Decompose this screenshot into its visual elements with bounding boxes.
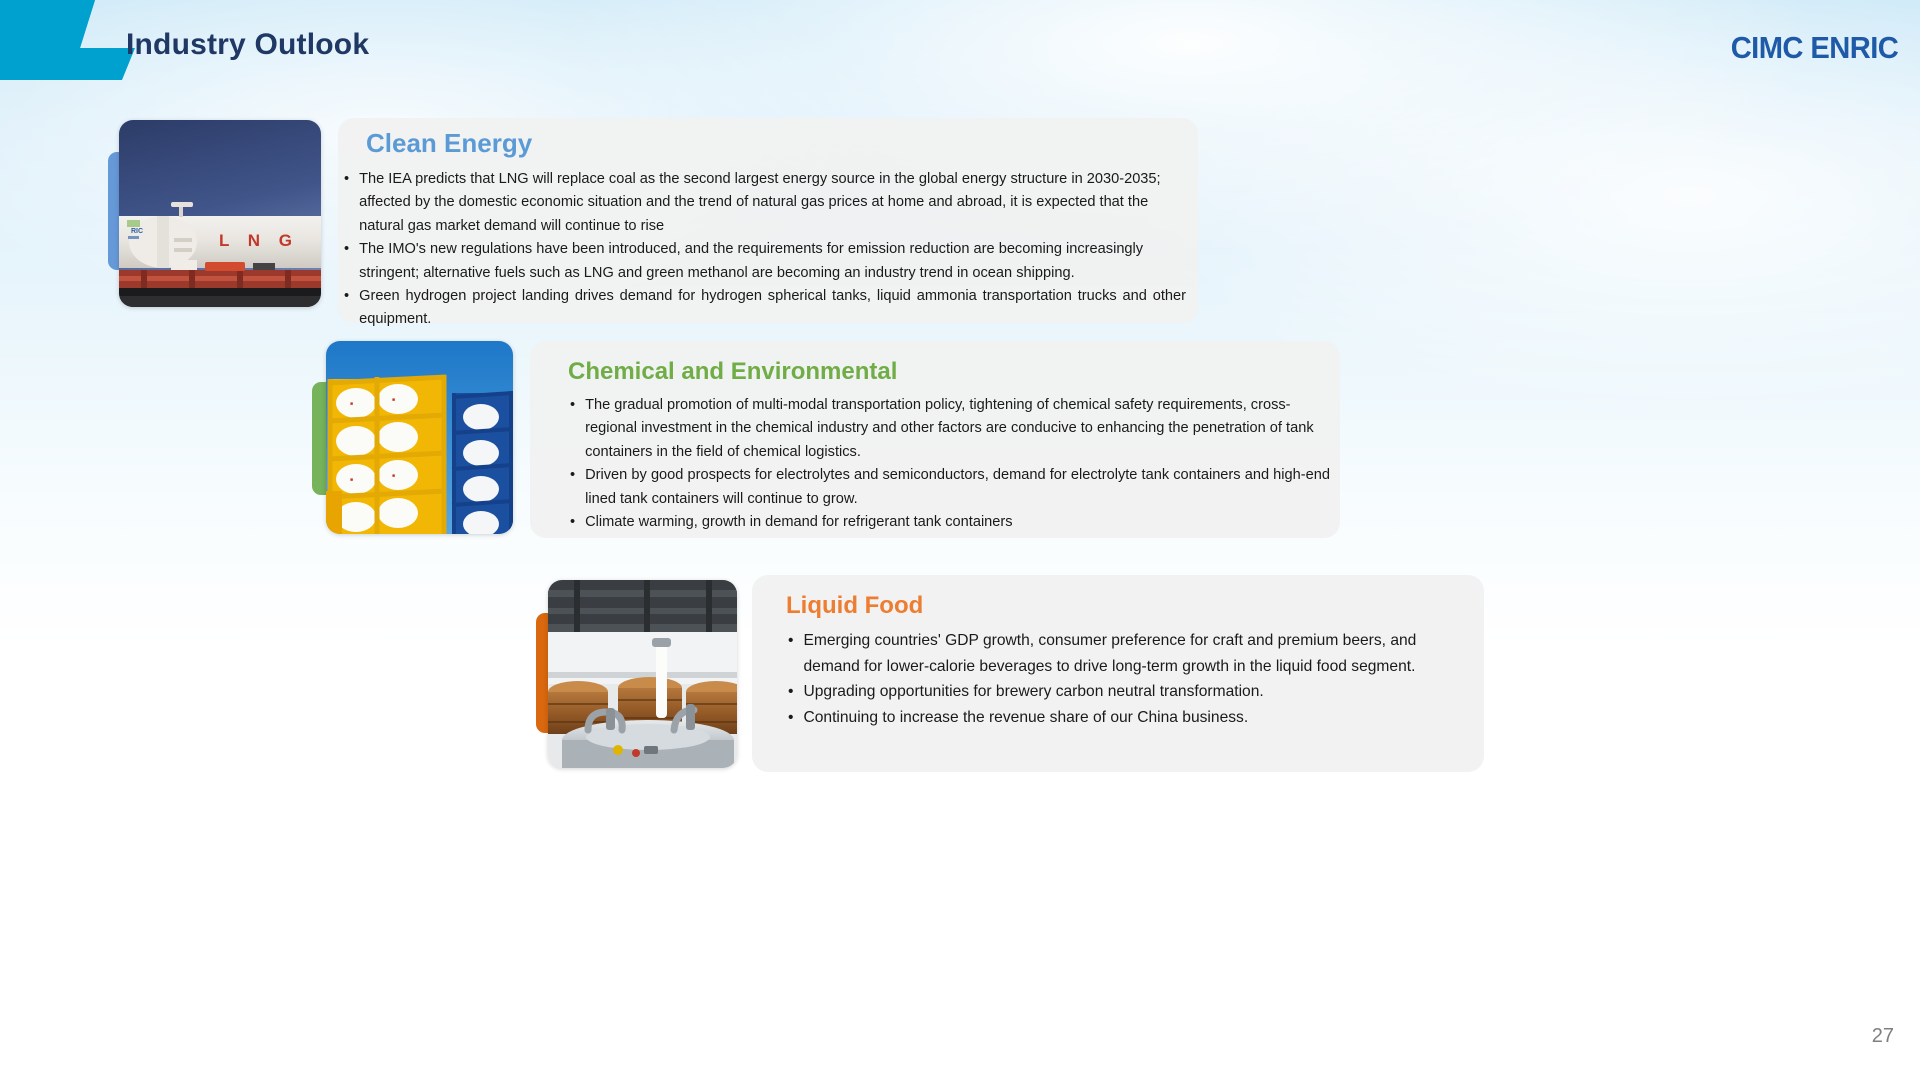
bullet-dot-icon: • xyxy=(788,705,793,731)
bullet-dot-icon: • xyxy=(570,511,575,534)
bullet-dot-icon: • xyxy=(570,464,575,511)
list-item: • The IEA predicts that LNG will replace… xyxy=(344,168,1196,238)
card-panel-chemical-environmental: Chemical and Environmental • The gradual… xyxy=(530,341,1340,538)
bullet-text: Continuing to increase the revenue share… xyxy=(803,705,1468,731)
company-logo: CIMC ENRIC xyxy=(1730,30,1898,66)
slide-canvas: Industry Outlook CIMC ENRIC Clean Energy… xyxy=(0,0,1920,1080)
list-item: • Green hydrogen project landing drives … xyxy=(344,285,1196,332)
page-number: 27 xyxy=(1872,1025,1894,1048)
bullet-dot-icon: • xyxy=(344,238,349,285)
bullet-list-liquid-food: • Emerging countries' GDP growth, consum… xyxy=(788,628,1468,730)
card-title-clean-energy: Clean Energy xyxy=(366,128,532,159)
bullet-text: Green hydrogen project landing drives de… xyxy=(359,285,1186,332)
list-item: • The gradual promotion of multi-modal t… xyxy=(570,394,1330,464)
svg-text:■: ■ xyxy=(392,473,395,479)
bullet-text: Upgrading opportunities for brewery carb… xyxy=(803,679,1468,705)
list-item: • Driven by good prospects for electroly… xyxy=(570,464,1330,511)
bullet-list-clean-energy: • The IEA predicts that LNG will replace… xyxy=(344,168,1196,332)
bullet-dot-icon: • xyxy=(570,394,575,464)
bullet-text: The IEA predicts that LNG will replace c… xyxy=(359,168,1186,238)
list-item: • Continuing to increase the revenue sha… xyxy=(788,705,1468,731)
svg-text:RIC: RIC xyxy=(131,228,143,235)
brand-flag-icon xyxy=(0,0,135,80)
card-title-liquid-food: Liquid Food xyxy=(786,592,923,620)
bullet-text: The gradual promotion of multi-modal tra… xyxy=(585,394,1330,464)
svg-text:L N G: L N G xyxy=(219,231,299,250)
page-title: Industry Outlook xyxy=(126,28,369,62)
svg-text:■: ■ xyxy=(350,401,353,407)
card-title-chemical-environmental: Chemical and Environmental xyxy=(568,358,897,386)
bullet-list-chemical-environmental: • The gradual promotion of multi-modal t… xyxy=(570,394,1330,534)
bullet-dot-icon: • xyxy=(788,679,793,705)
bullet-text: Driven by good prospects for electrolyte… xyxy=(585,464,1330,511)
svg-text:■: ■ xyxy=(350,477,353,483)
bullet-text: The IMO's new regulations have been intr… xyxy=(359,238,1186,285)
bullet-dot-icon: • xyxy=(344,285,349,332)
brewery-interior-photo xyxy=(548,580,737,768)
list-item: • Climate warming, growth in demand for … xyxy=(570,511,1330,534)
list-item: • Upgrading opportunities for brewery ca… xyxy=(788,679,1468,705)
card-panel-clean-energy: Clean Energy • The IEA predicts that LNG… xyxy=(338,118,1198,323)
bullet-dot-icon: • xyxy=(344,168,349,238)
stacked-tank-containers-photo: ■■ ■■ xyxy=(326,341,513,534)
lng-tank-truck-photo: L N G RIC xyxy=(119,120,321,307)
bullet-dot-icon: • xyxy=(788,628,793,679)
bullet-text: Emerging countries' GDP growth, consumer… xyxy=(803,628,1468,679)
list-item: • Emerging countries' GDP growth, consum… xyxy=(788,628,1468,679)
bullet-text: Climate warming, growth in demand for re… xyxy=(585,511,1330,534)
card-panel-liquid-food: Liquid Food • Emerging countries' GDP gr… xyxy=(752,575,1484,772)
svg-text:■: ■ xyxy=(392,397,395,403)
list-item: • The IMO's new regulations have been in… xyxy=(344,238,1196,285)
